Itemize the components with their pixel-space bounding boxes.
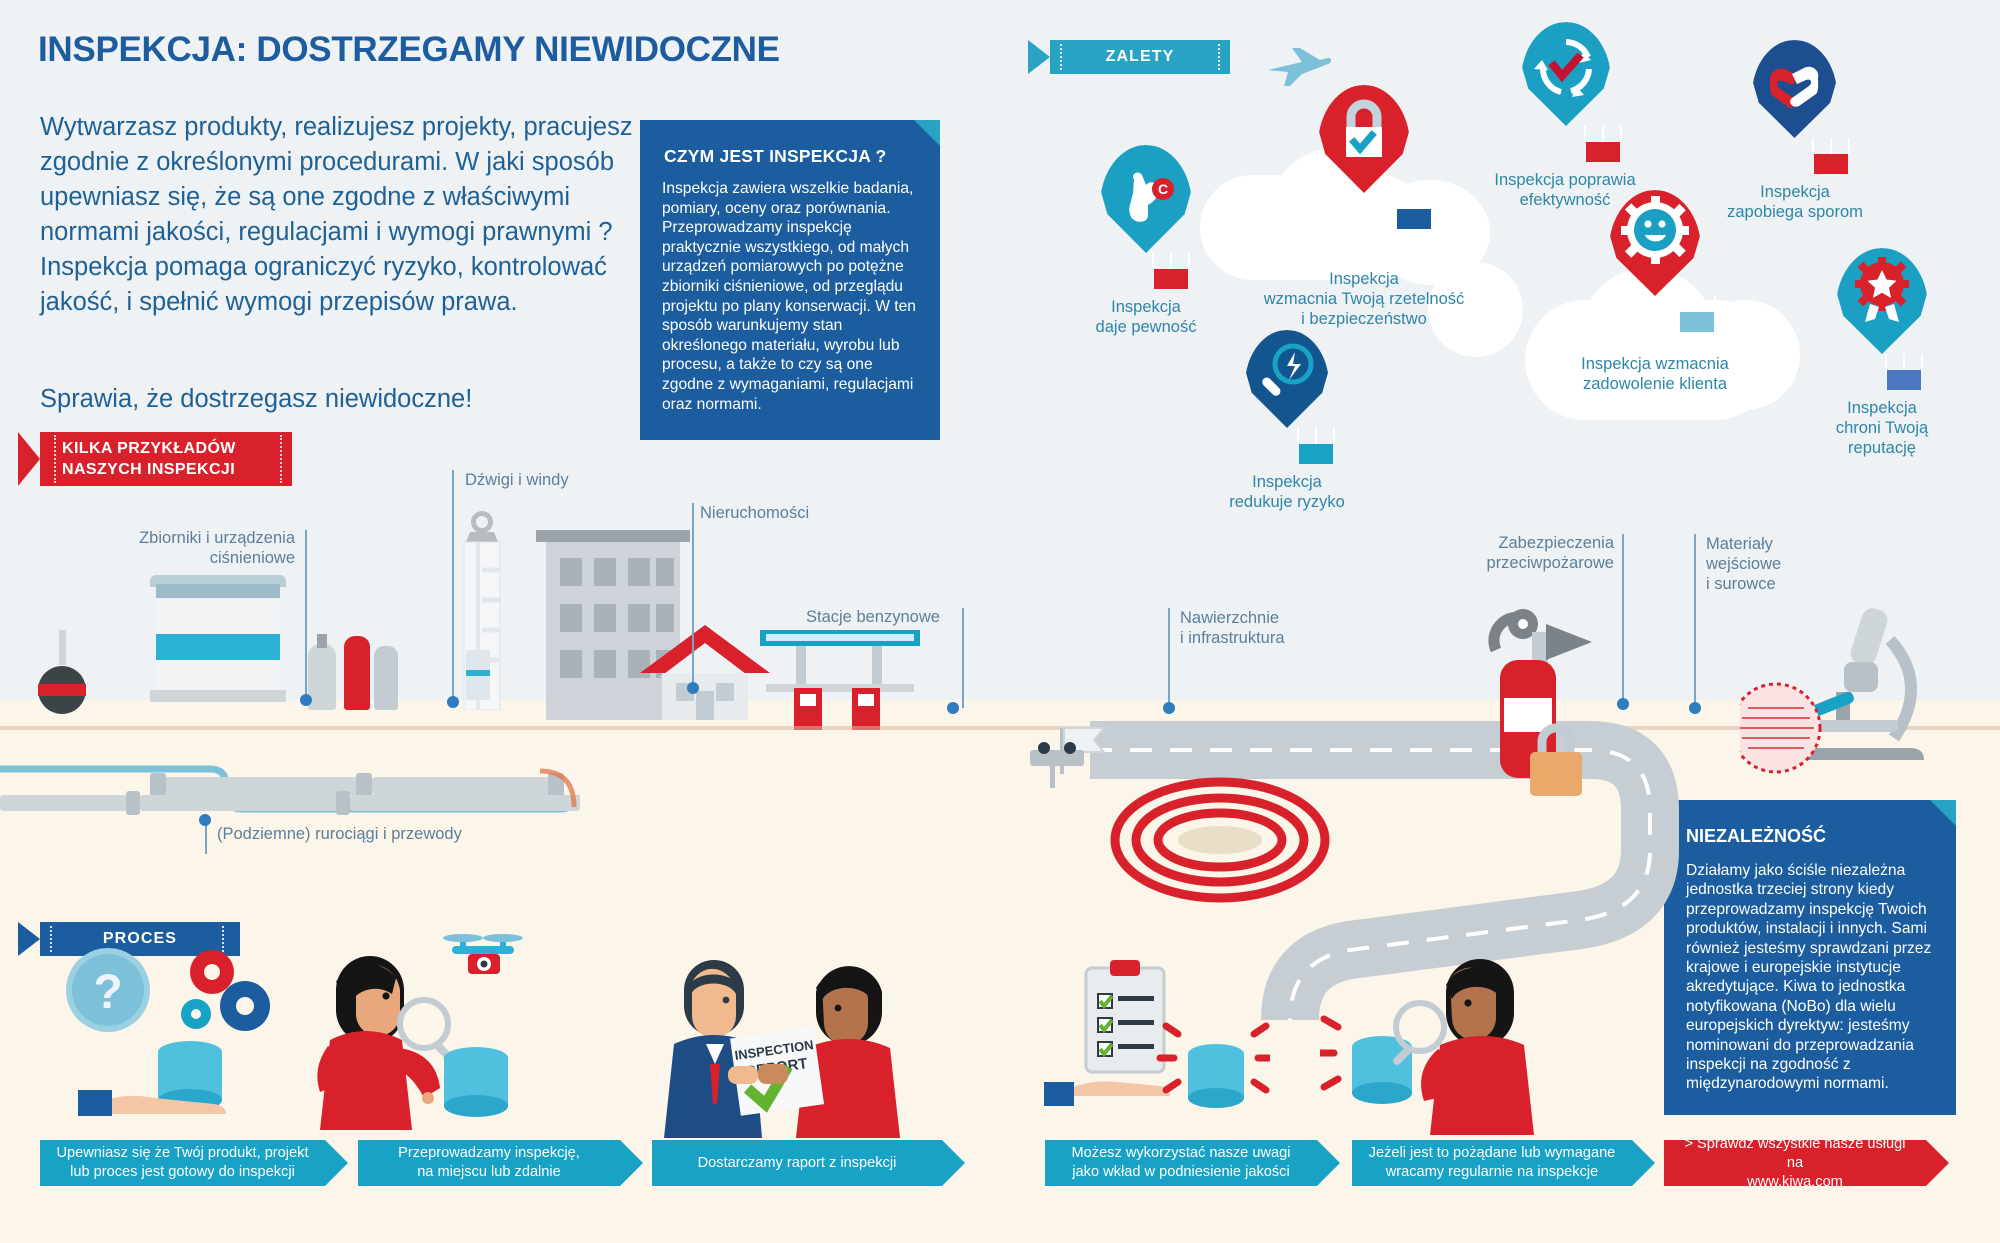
chevron-tip-icon [1926,1140,1949,1186]
balloon-ropes [1812,138,1850,154]
connector-dot [687,682,699,694]
balloon-basket [1680,312,1714,332]
pipeline-illustration [0,735,760,830]
microscope-illustration [1740,600,1950,780]
label-fire-protection: Zabezpieczeniaprzeciwpożarowe [1452,533,1614,573]
balloon-satisfaction: Inspekcja wzmacniazadowolenie klienta [1609,190,1785,394]
examples-ribbon-line2: NASZYCH INSPEKCJI [62,459,235,480]
balloon-risk: Inspekcjaredukuje ryzyko [1245,330,1387,512]
label-input-materials: Materiaływejściowei surowce [1706,534,1781,594]
balloon-basket [1814,154,1848,174]
process-step-5[interactable]: Jeżeli jest to pożądane lub wymaganewrac… [1352,1140,1632,1186]
process-illustration-report: INSPECTION REPORT [640,948,920,1138]
handshake-icon [1752,40,1837,138]
connector-dot [1689,702,1701,714]
balloon-label: Inspekcjaredukuje ryzyko [1187,472,1387,512]
corner-fold-icon [914,120,940,146]
process-step-1-label: Upewniasz się że Twój produkt, projektlu… [57,1144,309,1182]
balloon-label: Inspekcjadaje pewność [1051,297,1241,337]
recycle-check-icon [1521,22,1611,126]
award-rosette-icon [1836,248,1928,354]
balloon-ropes [1152,253,1190,269]
label-real-estate: Nieruchomości [700,503,809,523]
smiley-gear-icon [1609,190,1701,296]
balloon-ropes [1395,193,1433,209]
connector-line [205,822,207,854]
balloon-basket [1887,370,1921,390]
cta-services-label: > Sprawdź wszystkie nasze usługi nawww.k… [1680,1135,1910,1192]
process-step-5-label: Jeżeli jest to pożądane lub wymaganewrac… [1369,1144,1616,1182]
balloon-basket [1154,269,1188,289]
connector-dot [1163,702,1175,714]
examples-ribbon-line1: KILKA PRZYKŁADÓW [62,438,236,459]
what-is-inspection-heading: CZYM JEST INSPEKCJA ? [640,120,940,179]
process-step-2-label: Przeprowadzamy inspekcję,na miejscu lub … [398,1144,580,1182]
balloon-ropes [1584,126,1622,142]
connector-line [1168,608,1170,710]
benefits-ribbon: ZALETY [1050,40,1230,74]
connector-line [1622,534,1624,706]
connector-line [962,608,964,708]
buoy-icon [28,630,98,740]
balloon-ropes [1297,428,1335,444]
process-step-4[interactable]: Możesz wykorzystać nasze uwagijako wkład… [1045,1140,1317,1186]
process-step-1[interactable]: Upewniasz się że Twój produkt, projektlu… [40,1140,325,1186]
connector-line [305,530,307,702]
svg-text:C: C [1158,181,1168,197]
cta-services-link[interactable]: > Sprawdź wszystkie nasze usługi nawww.k… [1664,1140,1926,1186]
svg-text:?: ? [93,966,122,1019]
label-pressure-vessels: Zbiorniki i urządzeniaciśnieniowe [100,528,295,568]
strong-arm-icon: C [1100,145,1192,253]
what-is-inspection-body: Inspekcja zawiera wszelkie badania, pomi… [640,179,940,414]
balloon-basket [1397,209,1431,229]
house-illustration [640,625,770,725]
balloon-label: Inspekcja wzmacniazadowolenie klienta [1525,354,1785,394]
process-step-2[interactable]: Przeprowadzamy inspekcję,na miejscu lub … [358,1140,620,1186]
balloon-label: Inspekcjawzmacnia Twoją rzetelnośći bezp… [1219,269,1509,329]
balloon-reputation: Inspekcjachroni Twojąreputację [1836,248,1972,458]
connector-line [1694,534,1696,710]
chevron-tip-icon [325,1140,348,1186]
ribbon-notch-icon [18,922,40,956]
petrol-station-illustration [760,630,920,735]
connector-dot [300,694,312,706]
balloon-ropes [1678,296,1716,312]
padlock-check-icon [1318,85,1410,193]
connector-dot [1617,698,1629,710]
chevron-tip-icon [1632,1140,1655,1186]
what-is-inspection-panel: CZYM JEST INSPEKCJA ? Inspekcja zawiera … [640,120,940,440]
connector-line [692,503,694,689]
elevator-tower-illustration [452,510,512,715]
balloon-efficiency: Inspekcja poprawiaefektywność [1521,22,1685,210]
process-step-3[interactable]: Dostarczamy raport z inspekcji [652,1140,942,1186]
connector-dot [447,696,459,708]
airplane-icon [1262,44,1332,90]
connector-line [452,470,454,704]
ribbon-notch-icon [1028,40,1050,74]
corner-fold-icon [1930,800,1956,826]
process-illustration-recurring [1320,935,1570,1135]
padlock-illustration [1516,712,1596,802]
process-illustration-inspection [300,930,550,1130]
balloon-basket [1299,444,1333,464]
balloon-label: Inspekcjachroni Twojąreputację [1792,398,1972,458]
process-illustration-readiness: ? [60,940,280,1130]
intro-paragraph: Wytwarzasz produkty, realizujesz projekt… [40,110,640,320]
label-surfaces-infrastructure: Nawierzchniei infrastruktura [1180,608,1285,648]
connector-dot [199,814,211,826]
connector-dot [947,702,959,714]
chevron-tip-icon [1317,1140,1340,1186]
balloon-basket [1586,142,1620,162]
label-pipelines: (Podziemne) rurociągi i przewody [217,824,462,844]
process-step-4-label: Możesz wykorzystać nasze uwagijako wkład… [1072,1144,1291,1182]
chevron-tip-icon [942,1140,965,1186]
chevron-tip-icon [620,1140,643,1186]
examples-ribbon: KILKA PRZYKŁADÓW NASZYCH INSPEKCJI [40,432,292,486]
process-illustration-feedback [1040,960,1270,1140]
magnifier-bolt-icon [1245,330,1329,428]
label-petrol-stations: Stacje benzynowe [806,607,940,627]
process-step-3-label: Dostarczamy raport z inspekcji [698,1154,897,1173]
benefits-ribbon-label: ZALETY [1106,48,1175,66]
page-title: INSPEKCJA: DOSTRZEGAMY NIEWIDOCZNE [38,30,780,70]
ribbon-notch-icon [18,432,40,486]
label-cranes-lifts: Dźwigi i windy [465,470,569,490]
balloon-ropes [1885,354,1923,370]
tagline: Sprawia, że dostrzegasz niewidoczne! [40,385,472,414]
